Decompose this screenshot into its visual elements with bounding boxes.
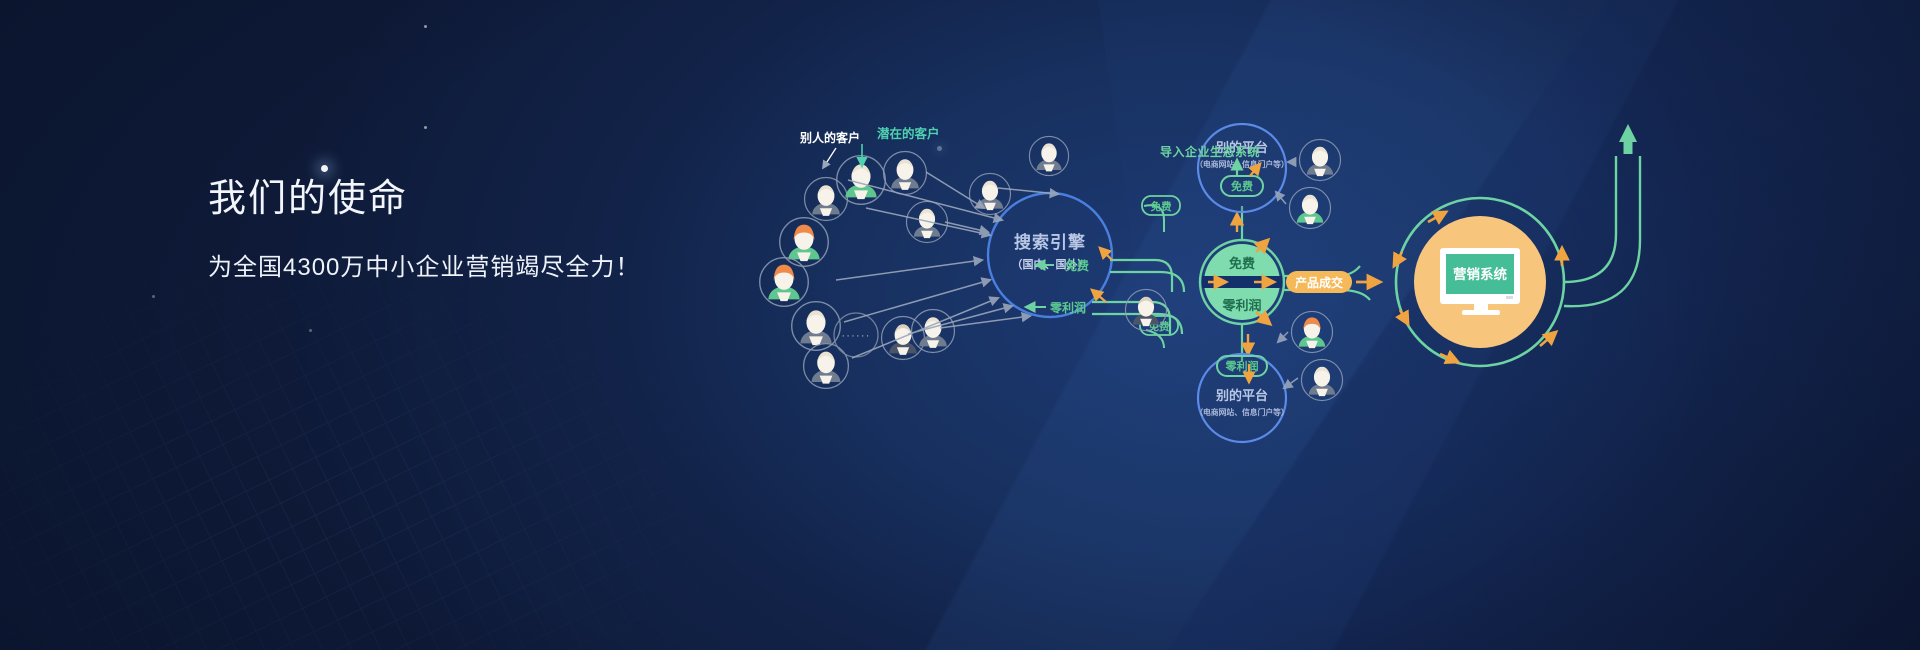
customer-avatar [969,173,1010,214]
platform-bottom-subtitle: （电商网站、信息门户等） [1195,407,1289,417]
customer-avatar [792,302,841,351]
particle-dot [309,329,312,332]
marketing-system: 营销系统 [1396,198,1564,366]
customer-avatar [805,178,848,221]
particle-dot [424,126,427,129]
customer-avatar [837,156,886,205]
customer-avatar [780,218,829,267]
platform-avatar [1299,139,1340,180]
potential-customers-label: 潜在的客户 [877,126,940,141]
platform-top-badge: 免费 [1231,179,1253,193]
hub-zero-profit-label: 零利润 [1221,298,1261,313]
marketing-system-label: 营销系统 [1453,266,1507,282]
ecosystem-up-arrow [1619,124,1637,154]
search-engine-title: 搜索引擎 [1014,232,1086,252]
platform-avatar [1291,311,1332,352]
page-subtitle: 为全国4300万中小企业营销竭尽全力！ [208,256,828,280]
others-customers-label: 别人的客户 [799,130,860,145]
side-badge-upper-label: 免费 [1151,200,1173,213]
platform-bottom-badge: 零利润 [1225,359,1259,373]
deal-pill-label: 产品成交 [1295,275,1343,290]
customer-avatar [882,317,925,360]
platform-top-subtitle: （电商网站、信息门户等） [1195,159,1289,169]
platform-bottom: 零利润 别的平台 （电商网站、信息门户等） [1195,354,1289,442]
ecosystem-import-label-overlay: 导入企业生态系统 [1160,143,1260,160]
particle-dot [321,165,328,172]
customer-avatar [804,344,849,389]
particle-dot [424,25,427,28]
page-title: 我们的使命 [208,180,828,218]
search-zero-profit-label: 零利润 [1049,300,1086,315]
hero-copy: 我们的使命 为全国4300万中小企业营销竭尽全力！ [208,180,828,280]
customer-avatar [760,258,809,307]
platform-avatar [1125,289,1166,330]
others-customers-pointer [823,148,836,168]
hero-banner: 我们的使命 为全国4300万中小企业营销竭尽全力！ [0,0,1920,650]
ellipsis-label: ······ [841,330,870,342]
platform-top: 别的平台 （电商网站、信息门户等） 免费 [1195,124,1289,212]
ecosystem-diagram: 搜索引擎 （国内、国外） ······ 别人的客 [740,120,1870,540]
platform-avatar [1029,136,1068,175]
customer-avatar [884,152,927,195]
particle-dot [152,295,155,298]
platform-bottom-title: 别的平台 [1215,388,1268,403]
search-engine-circle [988,193,1112,317]
platform-avatar [1289,187,1330,228]
platform-avatar [1301,359,1342,400]
search-free-label: 免费 [1065,258,1089,273]
side-badge-upper: 免费 [1142,196,1180,232]
ecosystem-import-label: 导入企业生态系统 [1592,120,1692,121]
deal-pill: 产品成交 [1286,271,1352,293]
hub-free-label: 免费 [1229,256,1255,271]
